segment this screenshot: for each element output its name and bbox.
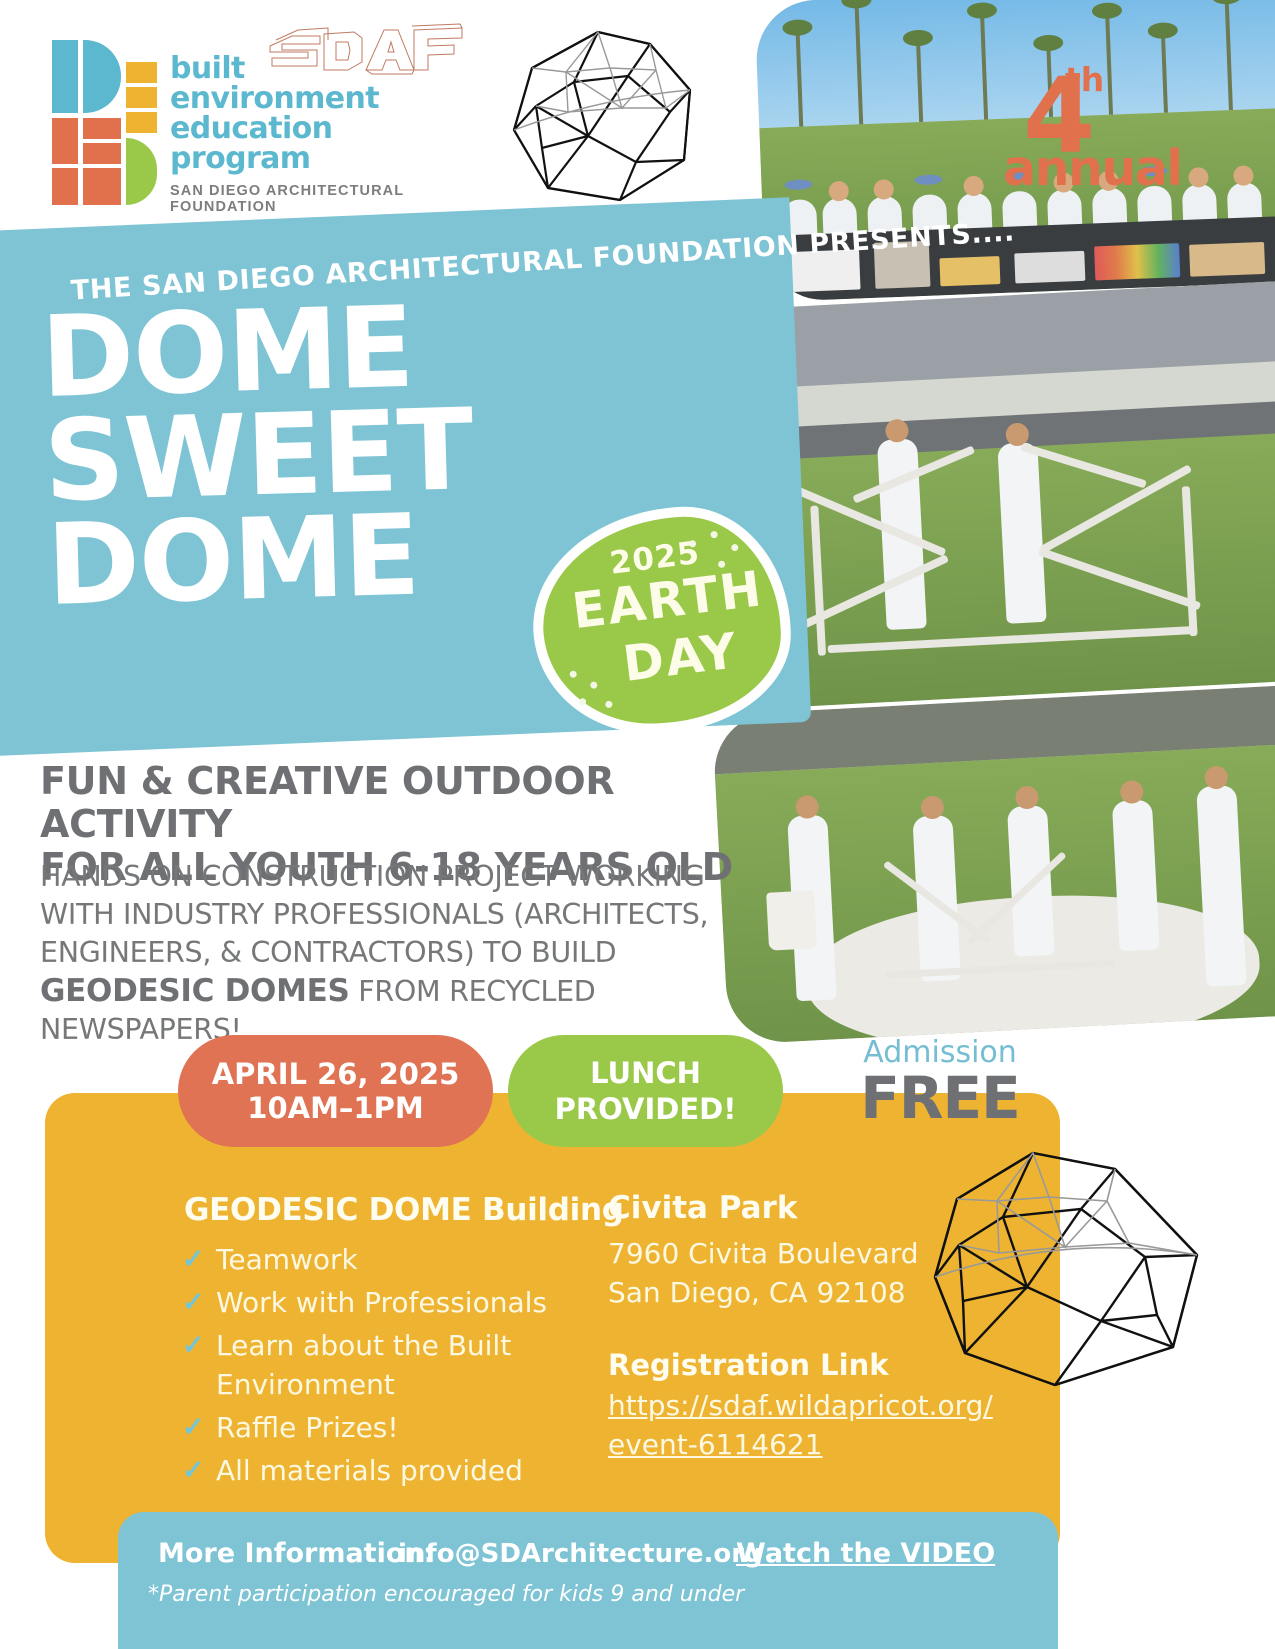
contact-email[interactable]: info@SDArchitecture.org <box>398 1539 763 1569</box>
date-line-1: APRIL 26, 2025 <box>212 1057 460 1091</box>
registration-block: Registration Link https://sdaf.wildapric… <box>608 1348 988 1464</box>
bep-line-4: program <box>170 144 379 174</box>
footer-bar: More Information: info@SDArchitecture.or… <box>118 1512 1058 1649</box>
venue-city: San Diego, CA 92108 <box>608 1273 938 1312</box>
list-item-label: Raffle Prizes! <box>216 1408 399 1447</box>
bep-logo-subtitle: SAN DIEGO ARCHITECTURAL FOUNDATION <box>170 183 472 215</box>
photo-team-building-dome <box>712 685 1275 1045</box>
list-item: ✓ All materials provided <box>182 1451 582 1490</box>
poster-root: THE SAN DIEGO ARCHITECTURAL FOUNDATION P… <box>0 0 1275 1649</box>
earth-day-line-2: DAY <box>620 622 741 693</box>
body-emphasis: GEODESIC DOMES <box>40 973 350 1009</box>
list-item-label: All materials provided <box>216 1451 523 1490</box>
list-item-label: Learn about the Built Environment <box>216 1326 582 1404</box>
registration-url-line-1[interactable]: https://sdaf.wildapricot.org/ <box>608 1386 988 1425</box>
page-title: DOME SWEET DOME <box>40 294 477 618</box>
admission-value: FREE <box>845 1070 1035 1126</box>
check-icon: ✓ <box>182 1240 216 1279</box>
lunch-badge: LUNCH PROVIDED! <box>508 1035 783 1147</box>
watch-video-link[interactable]: Watch the VIDEO <box>736 1538 995 1569</box>
check-icon: ✓ <box>182 1283 216 1322</box>
benefits-list: ✓ Teamwork ✓ Work with Professionals ✓ L… <box>182 1240 582 1494</box>
registration-label: Registration Link <box>608 1348 988 1382</box>
panel-list-title-rest: Building <box>472 1192 624 1228</box>
venue-street: 7960 Civita Boulevard <box>608 1234 938 1273</box>
lunch-line-2: PROVIDED! <box>555 1092 737 1126</box>
earth-day-line-1: EARTH <box>569 560 766 640</box>
date-line-2: 10AM–1PM <box>247 1091 423 1125</box>
bep-logo-mark <box>52 40 157 205</box>
list-item: ✓ Work with Professionals <box>182 1283 582 1322</box>
panel-list-title-bold: GEODESIC DOME <box>184 1192 472 1228</box>
sdaf-sketch-logo <box>262 18 472 98</box>
list-item: ✓ Raffle Prizes! <box>182 1408 582 1447</box>
list-item: ✓ Teamwork <box>182 1240 582 1279</box>
list-item-label: Teamwork <box>216 1240 358 1279</box>
footer-note: *Parent participation encouraged for kid… <box>148 1582 744 1607</box>
bep-line-3: education <box>170 114 379 144</box>
check-icon: ✓ <box>182 1326 216 1365</box>
venue-block: Civita Park 7960 Civita Boulevard San Di… <box>608 1190 938 1312</box>
admission-block: Admission FREE <box>845 1035 1035 1126</box>
subhead-line-1: FUN & CREATIVE OUTDOOR ACTIVITY <box>40 760 740 846</box>
list-item: ✓ Learn about the Built Environment <box>182 1326 582 1404</box>
more-info-label: More Information: <box>158 1538 434 1569</box>
registration-url-line-2[interactable]: event-6114621 <box>608 1425 988 1464</box>
lunch-line-1: LUNCH <box>590 1056 701 1090</box>
venue-name: Civita Park <box>608 1190 938 1226</box>
annual-ordinal: th <box>1065 60 1104 99</box>
geodesic-dome-icon-header <box>470 20 730 235</box>
check-icon: ✓ <box>182 1408 216 1447</box>
panel-list-title: GEODESIC DOME Building <box>184 1192 624 1228</box>
check-icon: ✓ <box>182 1451 216 1490</box>
annual-word: annual <box>1003 140 1182 197</box>
title-line-3: DOME <box>46 502 477 618</box>
date-badge: APRIL 26, 2025 10AM–1PM <box>178 1035 493 1147</box>
body-copy: HANDS ON CONSTRUCTION PROJECT WORKING WI… <box>40 858 750 1049</box>
body-part-1: HANDS ON CONSTRUCTION PROJECT WORKING WI… <box>40 860 708 969</box>
list-item-label: Work with Professionals <box>216 1283 547 1322</box>
